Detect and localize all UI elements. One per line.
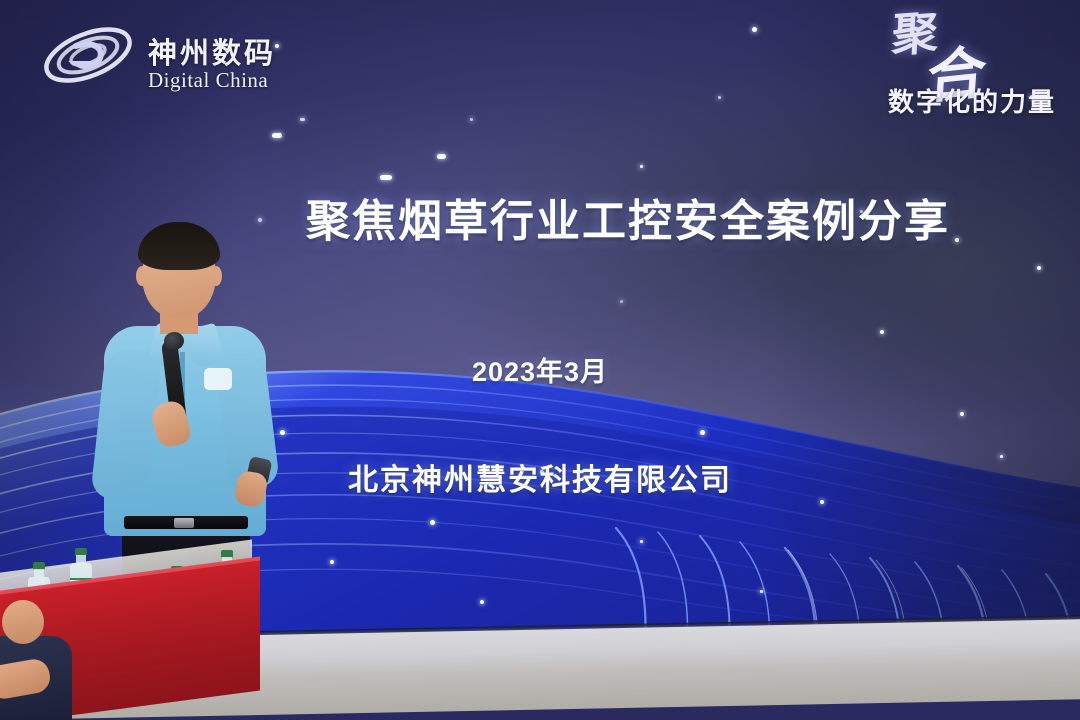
conference-stage-photo: 神州数码 Digital China 聚 合 数字化的力量 聚焦烟草行业工控安全… <box>0 0 1080 720</box>
speaker-belt-buckle <box>174 518 194 528</box>
slide-title: 聚焦烟草行业工控安全案例分享 <box>306 185 1006 249</box>
speaker-chest-logo <box>204 368 232 390</box>
spiral-galaxy-icon <box>40 20 136 90</box>
event-slogan-sub: 数字化的力量 <box>888 82 1056 119</box>
brand-name-cn: 神州数码 <box>148 30 276 72</box>
screen-dark-patch <box>650 120 1080 450</box>
event-brush-top: 聚 <box>891 13 933 58</box>
brand-name-en: Digital China <box>148 68 268 93</box>
speaker-hair <box>138 222 220 270</box>
event-logo: 聚 合 数字化的力量 <box>800 12 1060 112</box>
seated-attendee <box>0 600 78 720</box>
digital-china-logo: 神州数码 Digital China <box>40 16 290 96</box>
